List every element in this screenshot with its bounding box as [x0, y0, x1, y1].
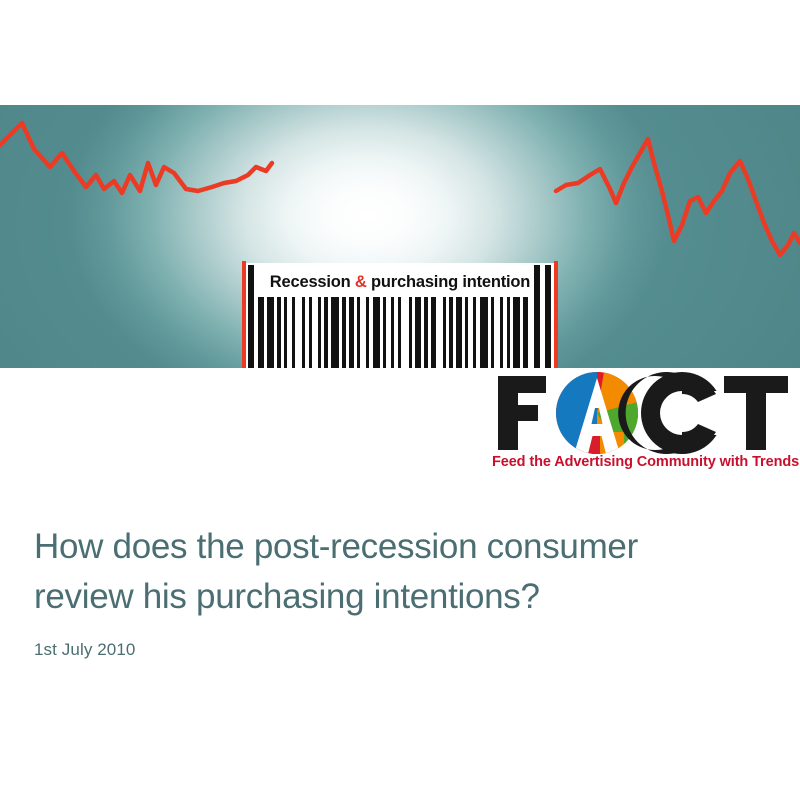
barcode-bar — [342, 297, 346, 368]
barcode-bar — [292, 297, 295, 368]
logo-letter-a-circle — [556, 372, 638, 454]
barcode-bar — [491, 297, 494, 368]
barcode-bar — [523, 297, 528, 368]
title-block: How does the post-recession consumer rev… — [34, 522, 764, 660]
recession-banner-image: Recession & purchasing intention — [0, 105, 800, 368]
barcode-graphic: Recession & purchasing intention — [244, 263, 556, 368]
barcode-bar — [507, 297, 510, 368]
barcode-bar — [473, 297, 476, 368]
fact-logo: Feed the Advertising Community with Tren… — [492, 372, 792, 480]
barcode-bar — [267, 297, 274, 368]
barcode-bar — [465, 297, 468, 368]
barcode-bar — [415, 297, 421, 368]
barcode-bar — [324, 297, 328, 368]
slide-title: How does the post-recession consumer rev… — [34, 522, 764, 622]
barcode-bar — [443, 297, 446, 368]
barcode-bars — [258, 297, 530, 368]
fact-logo-tagline: Feed the Advertising Community with Tren… — [492, 454, 792, 470]
barcode-bar — [357, 297, 360, 368]
presentation-slide: Recession & purchasing intention — [0, 0, 800, 800]
slide-title-line2: review his purchasing intentions? — [34, 572, 764, 622]
barcode-bar — [277, 297, 281, 368]
barcode-title-row: Recession & purchasing intention — [244, 267, 556, 297]
barcode-bar — [500, 297, 503, 368]
barcode-bar — [424, 297, 428, 368]
barcode-guard-bar-left — [248, 265, 254, 368]
barcode-bar — [349, 297, 354, 368]
barcode-bar — [456, 297, 462, 368]
barcode-bar — [383, 297, 386, 368]
barcode-bar — [480, 297, 488, 368]
barcode-guard-bar-right-outer — [545, 265, 551, 368]
slide-date: 1st July 2010 — [34, 640, 764, 660]
barcode-bar — [318, 297, 321, 368]
slide-title-line1: How does the post-recession consumer — [34, 522, 764, 572]
barcode-bar — [302, 297, 305, 368]
barcode-title-prefix: Recession — [270, 273, 355, 291]
logo-letter-t — [724, 376, 788, 450]
fact-logo-letters — [492, 372, 792, 454]
barcode-title-suffix: purchasing intention — [367, 273, 531, 291]
barcode-guard-bar-right-inner — [534, 265, 540, 368]
barcode-bar — [309, 297, 312, 368]
barcode-bar — [513, 297, 520, 368]
barcode-bar — [398, 297, 401, 368]
barcode-title-ampersand: & — [355, 273, 367, 291]
barcode-title: Recession & purchasing intention — [270, 273, 530, 292]
logo-letter-f — [498, 376, 546, 450]
barcode-bar — [409, 297, 412, 368]
barcode-bar — [449, 297, 453, 368]
barcode-bar — [373, 297, 380, 368]
barcode-bar — [284, 297, 287, 368]
barcode-bar — [391, 297, 394, 368]
barcode-bar — [331, 297, 339, 368]
barcode-bar — [366, 297, 369, 368]
barcode-bar — [431, 297, 436, 368]
barcode-bar — [258, 297, 264, 368]
